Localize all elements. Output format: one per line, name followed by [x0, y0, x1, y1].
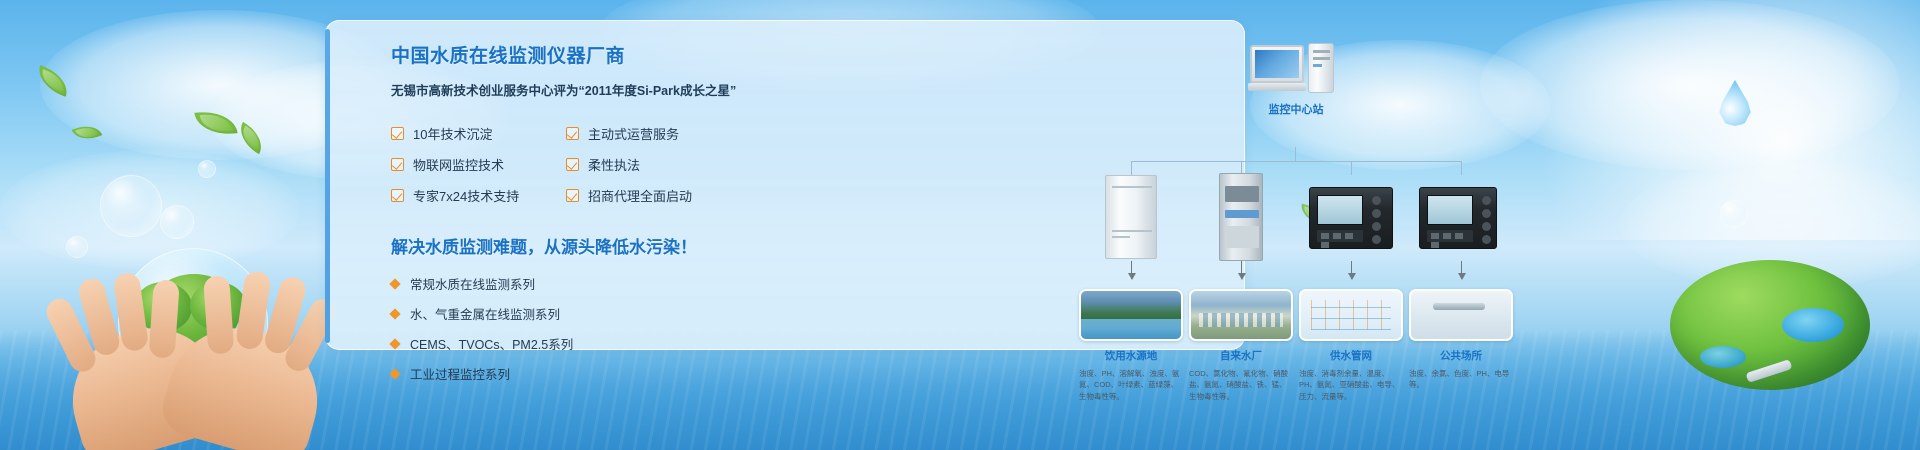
scenario-photo [1079, 289, 1183, 341]
feature-item: 柔性执法 [566, 155, 741, 174]
feature-item: 主动式运营服务 [566, 124, 741, 143]
computer-tower [1308, 43, 1334, 93]
checkbox-icon [566, 158, 579, 171]
device-node [1083, 173, 1179, 261]
diamond-bullet-icon [389, 278, 400, 289]
scenario-photo [1299, 289, 1403, 341]
feature-item: 招商代理全面启动 [566, 186, 741, 205]
list-item-label: CEMS、TVOCs、PM2.5系列 [410, 334, 573, 353]
scenario-title: 供水管网 [1299, 348, 1403, 363]
scenario-description: COD、氯化物、氟化物、硝酸盐、氨氮、硝酸盐、铁、锰、生物毒性等。 [1189, 368, 1293, 402]
scenario-title: 自来水厂 [1189, 348, 1293, 363]
arrow-down-icon [1241, 261, 1242, 279]
checkbox-icon [566, 127, 579, 140]
monitoring-center-node: 监控中心站 [1246, 43, 1346, 117]
checkbox-icon [391, 189, 404, 202]
water-cabinet-icon [1083, 173, 1179, 261]
feature-item: 物联网监控技术 [391, 155, 566, 174]
checkbox-icon [391, 127, 404, 140]
arrow-down-icon [1131, 261, 1132, 279]
scenario-description: 浊度、PH、溶解氧、浊度、氨氮、COD、叶绿素、蓝绿藻、生物毒性等。 [1079, 368, 1183, 402]
feature-label: 10年技术沉淀 [413, 124, 492, 143]
diamond-bullet-icon [389, 308, 400, 319]
computer-icon [1248, 43, 1344, 95]
page-title: 中国水质在线监测仪器厂商 [391, 41, 781, 68]
list-item: 水、气重金属在线监测系列 [391, 304, 781, 323]
scenario-description: 浊度、消毒剂余量、温度、PH、氨氮、亚硝酸盐、电导、压力、流量等。 [1299, 368, 1403, 402]
analyzer-icon [1193, 173, 1289, 261]
leaf-icon [33, 65, 72, 96]
list-item-label: 常规水质在线监测系列 [410, 274, 535, 293]
list-item: 常规水质在线监测系列 [391, 274, 781, 293]
leaf-icon [194, 107, 237, 138]
keyboard [1248, 83, 1306, 91]
feature-label: 专家7x24技术支持 [413, 186, 519, 205]
scenario-description: 浊度、余氯、色度、PH、电导等。 [1409, 368, 1513, 391]
feature-label: 柔性执法 [588, 155, 640, 174]
feature-label: 主动式运营服务 [588, 124, 679, 143]
arrow-down-icon [1351, 261, 1352, 279]
monitoring-topology-diagram: 监控中心站 [1061, 43, 1521, 363]
monitor-screen [1250, 45, 1304, 83]
hero-text-column: 中国水质在线监测仪器厂商 无锡市高新技术创业服务中心评为“2011年度Si-Pa… [391, 41, 781, 394]
hero-panel: 中国水质在线监测仪器厂商 无锡市高新技术创业服务中心评为“2011年度Si-Pa… [325, 20, 1245, 350]
connector-line [1295, 147, 1296, 161]
hands-holding-tree-illustration [70, 210, 330, 450]
arrow-down-icon [1461, 261, 1462, 279]
checkbox-icon [391, 158, 404, 171]
scenario-title: 饮用水源地 [1079, 348, 1183, 363]
scenario-card: 供水管网 浊度、消毒剂余量、温度、PH、氨氮、亚硝酸盐、电导、压力、流量等。 [1299, 289, 1403, 402]
bubble [198, 160, 216, 178]
controller-instrument-icon [1413, 173, 1509, 261]
water-droplet-icon [1718, 80, 1752, 126]
page-subtitle: 无锡市高新技术创业服务中心评为“2011年度Si-Park成长之星” [391, 80, 781, 99]
diamond-bullet-icon [389, 368, 400, 379]
diamond-bullet-icon [389, 338, 400, 349]
monitoring-center-label: 监控中心站 [1246, 101, 1346, 117]
feature-item: 10年技术沉淀 [391, 124, 566, 143]
list-item-label: 水、气重金属在线监测系列 [410, 304, 560, 323]
scenario-photo [1189, 289, 1293, 341]
globe-water-body [1700, 346, 1746, 368]
section-subtitle: 解决水质监测难题，从源头降低水污染！ [391, 233, 781, 258]
scenario-card: 自来水厂 COD、氯化物、氟化物、硝酸盐、氨氮、硝酸盐、铁、锰、生物毒性等。 [1189, 289, 1293, 402]
leaf-icon [233, 122, 269, 154]
feature-checklist: 10年技术沉淀 主动式运营服务 物联网监控技术 柔性执法 专家7x24技术支持 … [391, 124, 781, 205]
product-series-list: 常规水质在线监测系列 水、气重金属在线监测系列 CEMS、TVOCs、PM2.5… [391, 274, 781, 383]
feature-label: 招商代理全面启动 [588, 186, 692, 205]
device-node [1303, 173, 1399, 261]
leaf-icon [72, 119, 103, 145]
connector-line [1131, 161, 1461, 162]
globe-water-body [1782, 308, 1844, 342]
list-item: CEMS、TVOCs、PM2.5系列 [391, 334, 781, 353]
device-node [1193, 173, 1289, 261]
scenario-card: 饮用水源地 浊度、PH、溶解氧、浊度、氨氮、COD、叶绿素、蓝绿藻、生物毒性等。 [1079, 289, 1183, 402]
panel-accent-bar [325, 29, 330, 343]
list-item-label: 工业过程监控系列 [410, 364, 510, 383]
list-item: 工业过程监控系列 [391, 364, 781, 383]
bubble [1720, 200, 1748, 228]
cloud [1480, 0, 1900, 170]
feature-item: 专家7x24技术支持 [391, 186, 566, 205]
scenario-title: 公共场所 [1409, 348, 1513, 363]
scenario-photo [1409, 289, 1513, 341]
device-node [1413, 173, 1509, 261]
scenario-card: 公共场所 浊度、余氯、色度、PH、电导等。 [1409, 289, 1513, 391]
feature-label: 物联网监控技术 [413, 155, 504, 174]
checkbox-icon [566, 189, 579, 202]
controller-instrument-icon [1303, 173, 1399, 261]
